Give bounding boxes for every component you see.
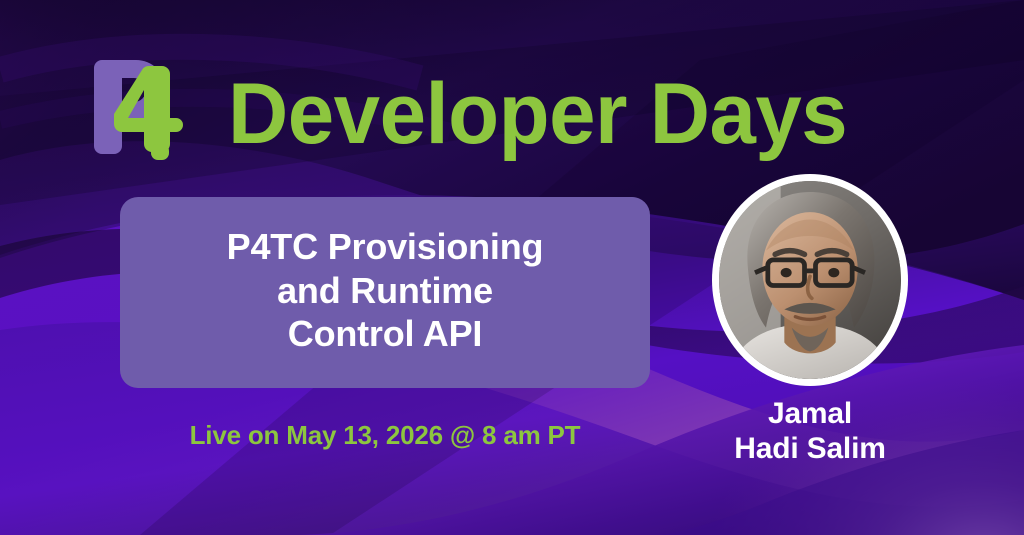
session-title-card: P4TC Provisioning and Runtime Control AP… (120, 197, 650, 388)
session-datetime: Live on May 13, 2026 @ 8 am PT (120, 420, 650, 451)
speaker-portrait-illustration (719, 181, 901, 379)
page-title: Developer Days (228, 60, 847, 168)
speaker-name: Jamal Hadi Salim (678, 396, 942, 467)
logo-digit-four-shape (114, 66, 183, 160)
p4-logo-icon (88, 52, 216, 164)
avatar (712, 174, 908, 386)
session-title: P4TC Provisioning and Runtime Control AP… (227, 225, 544, 357)
p4-logo (88, 52, 216, 164)
p4-developer-days-banner: Developer Days P4TC Provisioning and Run… (0, 0, 1024, 535)
speaker-headshot-image (719, 181, 901, 379)
